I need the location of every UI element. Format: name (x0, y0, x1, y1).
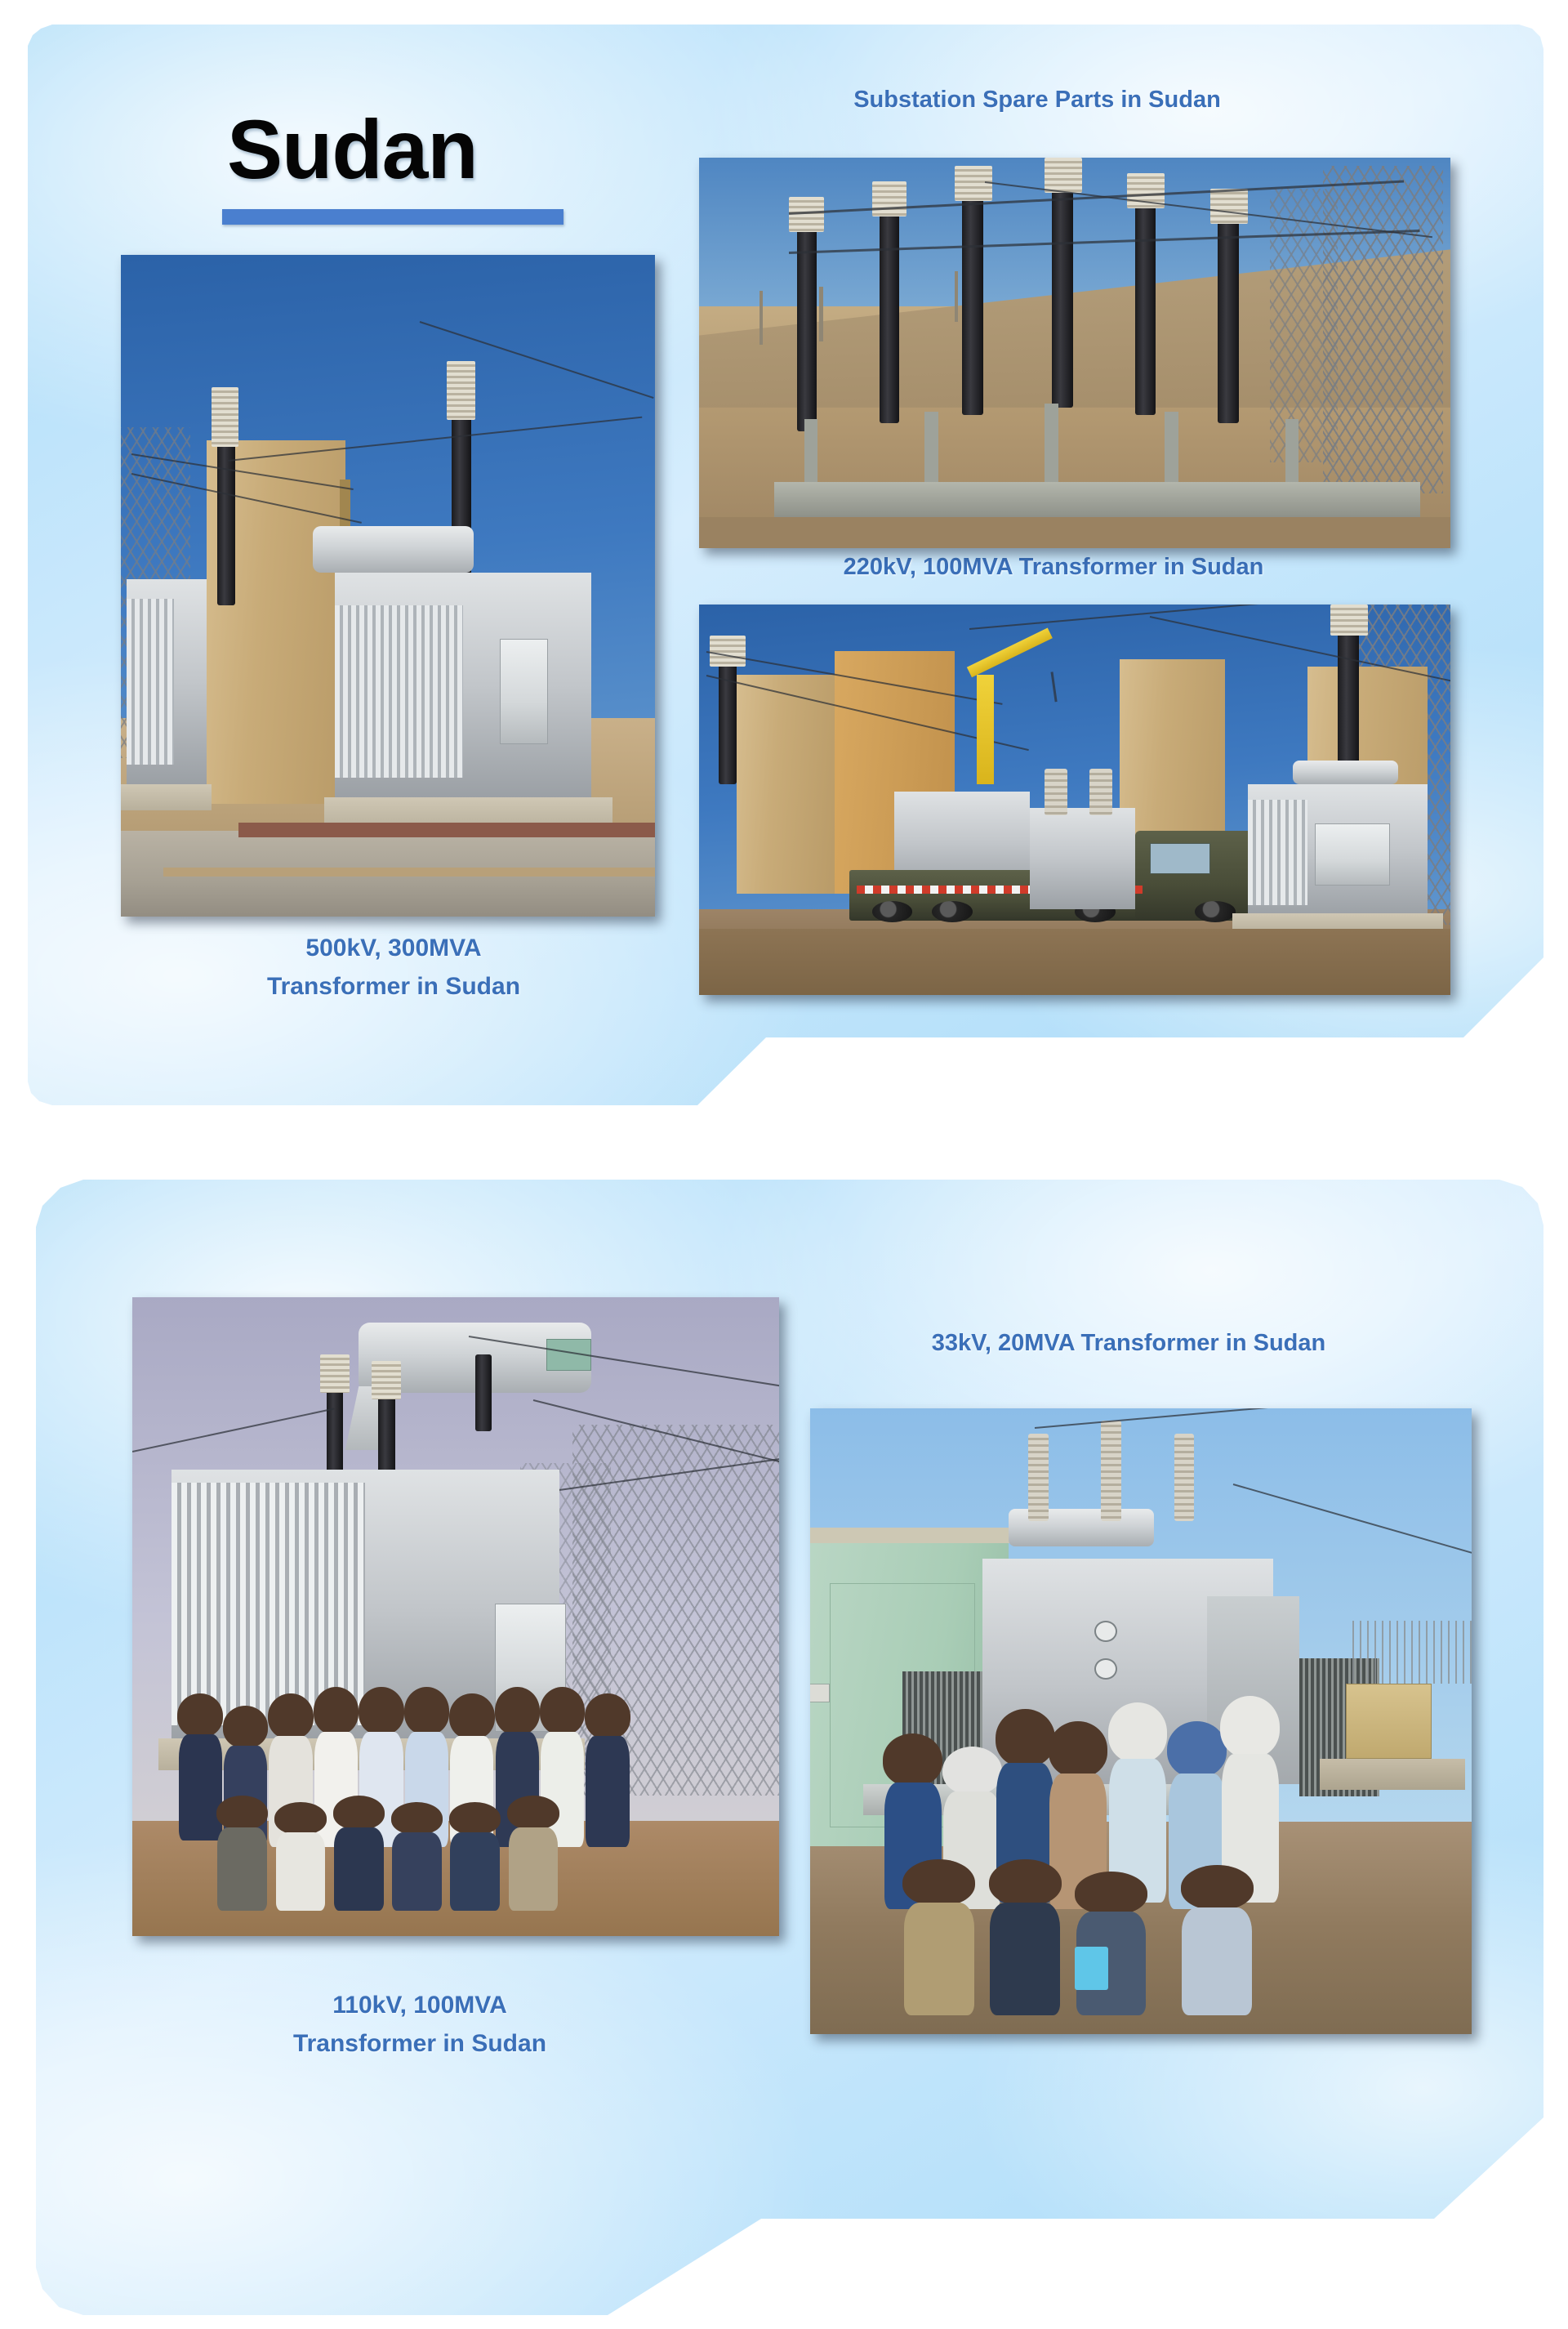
photo-500kv-transformer (121, 255, 655, 917)
photo-110kv-transformer (132, 1297, 779, 1936)
page-title: Sudan (227, 108, 478, 191)
caption-33kv-transformer: 33kV, 20MVA Transformer in Sudan (777, 1325, 1480, 1362)
photo-substation-spare-parts (699, 158, 1450, 548)
caption-500kv-transformer: 500kV, 300MVA Transformer in Sudan (140, 930, 647, 1006)
title-underline-bar (222, 209, 563, 225)
photo-33kv-transformer (810, 1408, 1472, 2034)
caption-110kv-transformer: 110kV, 100MVA Transformer in Sudan (175, 1987, 665, 2063)
caption-220kv-transformer: 220kV, 100MVA Transformer in Sudan (678, 549, 1429, 586)
photo-220kv-transformer (699, 605, 1450, 995)
caption-substation-spare-parts: Substation Spare Parts in Sudan (678, 82, 1396, 118)
